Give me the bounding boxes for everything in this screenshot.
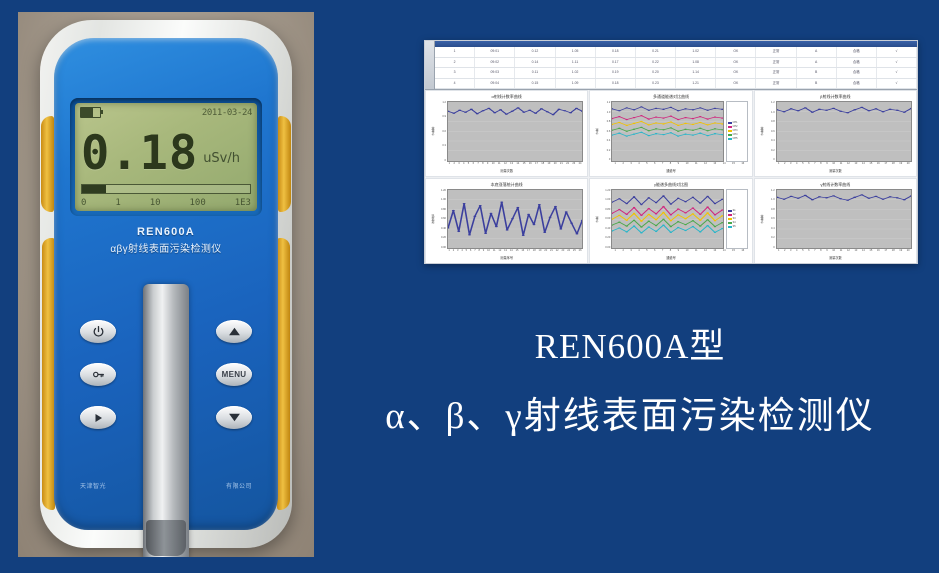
spreadsheet-cell[interactable]: OK: [716, 58, 756, 68]
chart-y-ticks: 1.21.00.80.60.40.20: [765, 189, 776, 250]
lcd-reading: 0.18 uSv/h: [81, 121, 251, 177]
spreadsheet-cell[interactable]: 正常: [756, 47, 796, 57]
chart-legend-item: S5: [728, 225, 746, 229]
up-button[interactable]: [216, 320, 252, 343]
spreadsheet-cell[interactable]: 合格: [837, 58, 877, 68]
chart-y-tick: 0: [436, 159, 446, 162]
chart-legend-item: CH5: [728, 137, 746, 141]
spreadsheet-cell[interactable]: 1.05: [556, 47, 596, 57]
play-button[interactable]: [80, 406, 116, 429]
chart-x-axis-label: 测量序号: [430, 255, 583, 260]
spreadsheet-row[interactable]: 209:020.141.110.170.221.08OK正常A合格√: [435, 58, 917, 69]
chart-y-tick: 0.00: [600, 246, 610, 249]
chart-y-axis-label: 计数: [594, 189, 600, 250]
spreadsheet-cell[interactable]: √: [877, 68, 917, 78]
chart-plot-area: [447, 101, 583, 162]
chart-multi-channel[interactable]: 多通道能谱对比曲线计数1.21.00.80.60.40.20CH1CH2CH3C…: [589, 90, 752, 177]
spreadsheet-cell[interactable]: 合格: [837, 47, 877, 57]
spreadsheet-cell[interactable]: 0.21: [636, 47, 676, 57]
chart-y-ticks: 1.201.000.800.600.400.200.00: [436, 189, 447, 250]
chart-legend-swatch: [728, 130, 732, 132]
spreadsheet-body: 109:010.121.050.180.211.02OK正常A合格√209:02…: [435, 41, 917, 89]
device-label: REN600A αβγ射线表面污染检测仪: [54, 226, 278, 255]
lcd-clock: 2011-03-24: [202, 108, 252, 118]
chart-y-tick: 0.80: [436, 208, 446, 211]
chart-y-tick: 0.20: [600, 236, 610, 239]
spreadsheet-cell[interactable]: 0.14: [515, 58, 555, 68]
spreadsheet-cell[interactable]: 0.15: [515, 79, 555, 89]
power-button[interactable]: [80, 320, 116, 343]
chart-y-tick: 0.40: [436, 227, 446, 230]
device-grip-top-left: [41, 116, 54, 212]
chart-y-tick: 1.2: [765, 189, 775, 192]
spreadsheet-cell[interactable]: 0.11: [515, 68, 555, 78]
chart-title: γ射线计数率曲线: [759, 182, 912, 189]
lcd-screen: 2011-03-24 0.18 uSv/h 01101001E3: [75, 103, 257, 211]
chart-y-ticks: 1.201.000.800.600.400.200.00: [600, 189, 611, 250]
footnote-left: 天津智光: [80, 481, 106, 490]
chart-y-tick: 1.2: [600, 101, 610, 104]
chart-y-ticks: 1.21.00.80.60.40.20: [765, 101, 776, 162]
chart-y-tick: 0.20: [436, 236, 446, 239]
chart-plot-area: [611, 189, 723, 250]
chart-body: 计数1.21.00.80.60.40.20CH1CH2CH3CH4CH5: [594, 101, 747, 162]
chart-body: 计数率1.21.00.80.60.40.20: [759, 101, 912, 162]
chart-y-tick: 1.0: [600, 111, 610, 114]
device-grip-right: [277, 238, 290, 510]
spreadsheet-cell[interactable]: 合格: [837, 79, 877, 89]
chart-y-axis-label: 计数率: [430, 101, 436, 162]
device-grip-top-right: [278, 116, 291, 212]
device-handle-strip: [143, 284, 189, 557]
spreadsheet-cell[interactable]: 正常: [756, 58, 796, 68]
chart-y-tick: 1.2: [436, 101, 446, 104]
chart-legend: S1S2S3S4S5: [726, 189, 748, 250]
chart-y-ticks: 1.20.90.60.30: [436, 101, 447, 162]
chart-y-tick: 0: [765, 158, 775, 161]
spreadsheet-cell[interactable]: 1: [435, 47, 475, 57]
chart-y-tick: 1.20: [436, 189, 446, 192]
spreadsheet-cell[interactable]: 1.02: [556, 68, 596, 78]
footnote-right: 有限公司: [226, 481, 252, 490]
chart-y-tick: 0.2: [765, 236, 775, 239]
headline-line-2: α、β、γ射线表面污染检测仪: [330, 385, 930, 439]
chart-y-tick: 0.9: [436, 115, 446, 118]
chart-y-tick: 0.6: [600, 130, 610, 133]
software-screenshot: 109:010.121.050.180.211.02OK正常A合格√209:02…: [424, 40, 918, 264]
spreadsheet-cell[interactable]: 09:02: [475, 58, 515, 68]
chart-y-tick: 0.8: [765, 120, 775, 123]
slide-root: 2011-03-24 0.18 uSv/h 01101001E3 REN600A: [0, 0, 939, 573]
spreadsheet-cell[interactable]: √: [877, 47, 917, 57]
chart-y-tick: 0.6: [436, 130, 446, 133]
spreadsheet-cell[interactable]: √: [877, 58, 917, 68]
spreadsheet-row[interactable]: 109:010.121.050.180.211.02OK正常A合格√: [435, 47, 917, 58]
spreadsheet-cell[interactable]: OK: [716, 47, 756, 57]
chart-y-axis-label: 计数率: [759, 189, 765, 250]
chart-legend-swatch: [728, 138, 732, 140]
chart-y-tick: 0.4: [765, 227, 775, 230]
chart-y-tick: 0.6: [765, 217, 775, 220]
device-handle-foot: [146, 520, 186, 556]
spreadsheet-cell[interactable]: √: [877, 79, 917, 89]
spreadsheet-cell[interactable]: OK: [716, 79, 756, 89]
battery-icon: [80, 107, 101, 118]
chart-alpha-count[interactable]: α射线计数率曲线计数率1.20.90.60.301234567891011121…: [425, 90, 588, 177]
chart-legend-label: S5: [733, 225, 736, 229]
spreadsheet-cell[interactable]: 0.20: [636, 68, 676, 78]
chart-title: β射线计数率曲线: [759, 94, 912, 101]
key-button[interactable]: [80, 363, 116, 386]
chart-y-tick: 1.00: [436, 198, 446, 201]
spreadsheet-rows: 109:010.121.050.180.211.02OK正常A合格√209:02…: [435, 47, 917, 89]
chart-y-axis-label: 计数率: [759, 101, 765, 162]
menu-button-label: MENU: [222, 370, 247, 379]
chart-y-tick: 0.2: [765, 149, 775, 152]
spreadsheet-cell[interactable]: A: [797, 58, 837, 68]
spreadsheet-cell[interactable]: 2: [435, 58, 475, 68]
spreadsheet-cell[interactable]: 1.09: [556, 79, 596, 89]
chart-x-axis-label: 测量次数: [430, 168, 583, 173]
spreadsheet-cell[interactable]: 合格: [837, 68, 877, 78]
chart-grid: α射线计数率曲线计数率1.20.90.60.301234567891011121…: [425, 90, 917, 264]
device-model-text: REN600A: [54, 226, 278, 238]
lcd-scale-tick: 10: [150, 198, 161, 208]
lcd-bezel: 2011-03-24 0.18 uSv/h 01101001E3: [70, 98, 262, 216]
menu-button[interactable]: MENU: [216, 363, 252, 386]
lcd-scale-tick: 0: [81, 198, 86, 208]
chart-gamma-count[interactable]: γ射线计数率曲线计数率1.21.00.80.60.40.201234567891…: [754, 178, 917, 265]
chart-y-tick: 0.8: [600, 120, 610, 123]
chart-title: 多通道能谱对比曲线: [594, 94, 747, 101]
chart-plot-area: [776, 101, 912, 162]
spreadsheet-row[interactable]: 309:030.111.020.190.201.14OK正常B合格√: [435, 68, 917, 79]
spreadsheet-cell[interactable]: 1.02: [676, 47, 716, 57]
spreadsheet-cell[interactable]: 0.18: [596, 47, 636, 57]
chart-legend-swatch: [728, 214, 732, 216]
chart-y-tick: 1.00: [600, 198, 610, 201]
lcd-bargraph: [81, 184, 251, 194]
spreadsheet-cell[interactable]: A: [797, 47, 837, 57]
chart-title: γ能谱多曲线对比图: [594, 182, 747, 189]
spreadsheet-cell[interactable]: 1.21: [676, 79, 716, 89]
lcd-unit: uSv/h: [203, 151, 240, 166]
chart-body: 涨落值1.201.000.800.600.400.200.00: [430, 189, 583, 250]
spreadsheet-row[interactable]: 409:040.151.090.180.231.21OK正常B合格√: [435, 79, 917, 90]
chart-plot-area: [447, 189, 583, 250]
spreadsheet-cell[interactable]: 正常: [756, 68, 796, 78]
chart-legend-swatch: [728, 222, 732, 224]
spreadsheet-cell[interactable]: 正常: [756, 79, 796, 89]
spreadsheet-cell[interactable]: 1.11: [556, 58, 596, 68]
lcd-status-bar: 2011-03-24: [80, 106, 252, 119]
spreadsheet-cell[interactable]: 0.17: [596, 58, 636, 68]
lcd-scale-tick: 1E3: [235, 198, 251, 208]
spreadsheet-cell[interactable]: 0.19: [596, 68, 636, 78]
spreadsheet-row-headers: [425, 41, 435, 89]
spreadsheet-cell[interactable]: 0.22: [636, 58, 676, 68]
chart-x-axis-label: 测量次数: [759, 168, 912, 173]
chart-y-tick: 1.0: [765, 111, 775, 114]
chart-y-tick: 0.8: [765, 208, 775, 211]
chart-x-axis-label: 通道号: [594, 168, 747, 173]
chart-gamma-multi[interactable]: γ能谱多曲线对比图计数1.201.000.800.600.400.200.00S…: [589, 178, 752, 265]
chart-plot-area: [611, 101, 723, 162]
chart-legend-swatch: [728, 126, 732, 128]
chart-y-tick: 0: [765, 246, 775, 249]
headline-line-1: REN600A型: [330, 318, 930, 369]
chart-y-axis-label: 计数: [594, 101, 600, 162]
lcd-bargraph-fill: [82, 185, 106, 193]
chart-x-axis-label: 测量次数: [759, 255, 912, 260]
chart-y-tick: 0.3: [436, 144, 446, 147]
chart-body: 计数率1.20.90.60.30: [430, 101, 583, 162]
chart-y-ticks: 1.21.00.80.60.40.20: [600, 101, 611, 162]
chart-fluctuation[interactable]: 本底涨落统计曲线涨落值1.201.000.800.600.400.200.001…: [425, 178, 588, 265]
chart-y-tick: 0.60: [436, 217, 446, 220]
lcd-value: 0.18: [81, 132, 198, 177]
chart-plot-area: [776, 189, 912, 250]
spreadsheet-cell[interactable]: 1.14: [676, 68, 716, 78]
chart-y-tick: 1.2: [765, 101, 775, 104]
lcd-scale-tick: 1: [115, 198, 120, 208]
spreadsheet-cell[interactable]: 0.18: [596, 79, 636, 89]
chart-y-tick: 0.6: [765, 130, 775, 133]
chart-y-axis-label: 涨落值: [430, 189, 436, 250]
chart-beta-count[interactable]: β射线计数率曲线计数率1.21.00.80.60.40.201234567891…: [754, 90, 917, 177]
lcd-scale-tick: 100: [190, 198, 206, 208]
spreadsheet-cell[interactable]: 1.08: [676, 58, 716, 68]
device-footnote: 天津智光 有限公司: [54, 481, 278, 490]
spreadsheet-cell[interactable]: 0.12: [515, 47, 555, 57]
chart-title: α射线计数率曲线: [430, 94, 583, 101]
spreadsheet-cell[interactable]: B: [797, 79, 837, 89]
chart-y-tick: 0.00: [436, 246, 446, 249]
spreadsheet-cell[interactable]: 3: [435, 68, 475, 78]
radiation-detector-device: 2011-03-24 0.18 uSv/h 01101001E3 REN600A: [40, 20, 292, 548]
lcd-scale: 01101001E3: [81, 196, 251, 209]
down-button[interactable]: [216, 406, 252, 429]
chart-y-tick: 0.60: [600, 217, 610, 220]
chart-title: 本底涨落统计曲线: [430, 182, 583, 189]
chart-y-tick: 0.2: [600, 149, 610, 152]
chart-legend-swatch: [728, 122, 732, 124]
chart-y-tick: 0: [600, 158, 610, 161]
spreadsheet-cell[interactable]: 09:03: [475, 68, 515, 78]
chart-x-axis-label: 通道号: [594, 255, 747, 260]
headline-block: REN600A型 α、β、γ射线表面污染检测仪: [330, 318, 930, 439]
chart-y-tick: 0.80: [600, 208, 610, 211]
chart-y-tick: 0.4: [600, 139, 610, 142]
chart-body: 计数1.201.000.800.600.400.200.00S1S2S3S4S5: [594, 189, 747, 250]
device-chinese-text: αβγ射线表面污染检测仪: [54, 240, 278, 255]
product-photo: 2011-03-24 0.18 uSv/h 01101001E3 REN600A: [18, 12, 314, 557]
chart-y-tick: 1.0: [765, 198, 775, 201]
spreadsheet-cell[interactable]: 09:01: [475, 47, 515, 57]
spreadsheet-cell[interactable]: 09:04: [475, 79, 515, 89]
chart-legend: CH1CH2CH3CH4CH5: [726, 101, 748, 162]
chart-y-tick: 0.40: [600, 227, 610, 230]
chart-y-tick: 0.4: [765, 139, 775, 142]
device-front-face: 2011-03-24 0.18 uSv/h 01101001E3 REN600A: [54, 38, 278, 530]
spreadsheet-panel: 109:010.121.050.180.211.02OK正常A合格√209:02…: [425, 41, 917, 90]
spreadsheet-cell[interactable]: 4: [435, 79, 475, 89]
chart-body: 计数率1.21.00.80.60.40.20: [759, 189, 912, 250]
chart-legend-label: CH5: [733, 137, 738, 141]
spreadsheet-cell[interactable]: 0.23: [636, 79, 676, 89]
spreadsheet-cell[interactable]: B: [797, 68, 837, 78]
spreadsheet-cell[interactable]: OK: [716, 68, 756, 78]
chart-legend-swatch: [728, 226, 732, 228]
chart-legend-swatch: [728, 218, 732, 220]
chart-y-tick: 1.20: [600, 189, 610, 192]
chart-legend-swatch: [728, 134, 732, 136]
chart-legend-swatch: [728, 210, 732, 212]
